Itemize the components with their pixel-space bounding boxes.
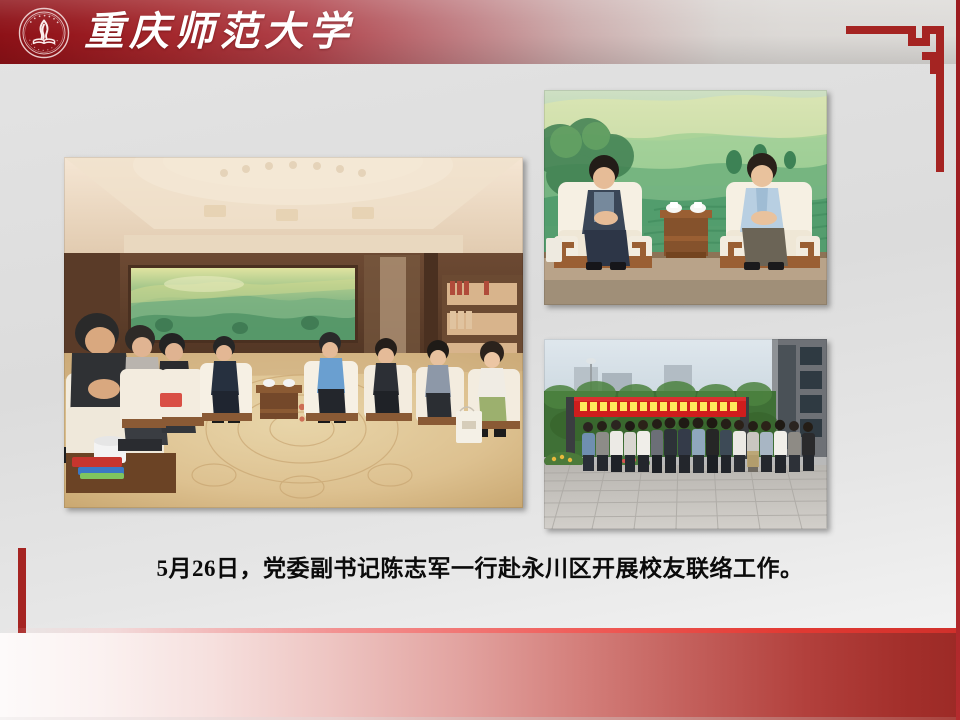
photo-group-alumni (544, 339, 827, 529)
presentation-slide: 重庆师范大学 (0, 0, 960, 720)
university-seal-icon (18, 7, 70, 59)
photo-meeting-room (64, 157, 523, 508)
slide-header-band: 重庆师范大学 (0, 0, 960, 64)
photo-two-leaders (544, 90, 827, 305)
right-edge-trim (956, 0, 960, 720)
footer-gradient-band (0, 633, 960, 720)
decorative-corner-top-right-icon (842, 12, 952, 177)
university-name-title: 重庆师范大学 (84, 4, 354, 60)
slide-caption: 5月26日，党委副书记陈志军一行赴永川区开展校友联络工作。 (0, 552, 960, 586)
